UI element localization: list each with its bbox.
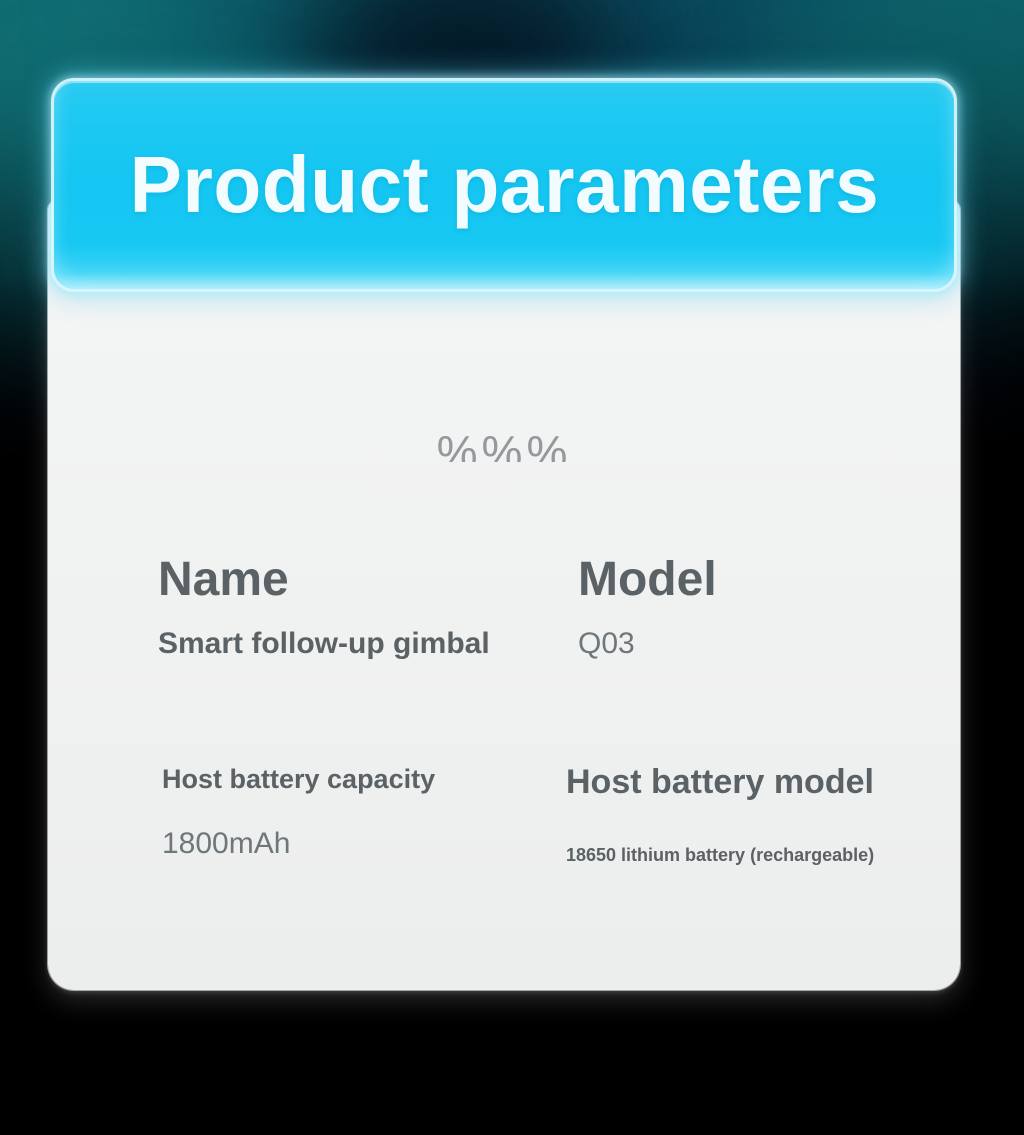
spec-label-name: Name (158, 555, 578, 605)
percent-ornament-glyphs: %%% (437, 432, 572, 462)
spec-label-host-battery-model: Host battery model (566, 765, 960, 801)
spec-table: %%% Name Smart follow-up gimbal Model Q0… (48, 200, 960, 990)
spec-cell-name: Name Smart follow-up gimbal (158, 555, 578, 661)
page-root: Product parameters %%% Name Smart follow… (0, 0, 1024, 1135)
product-parameters-card: Product parameters %%% Name Smart follow… (48, 81, 960, 990)
spec-label-model: Model (578, 555, 958, 605)
spec-value-model: Q03 (578, 627, 958, 661)
spec-value-name: Smart follow-up gimbal (158, 627, 578, 661)
spec-cell-model: Model Q03 (578, 555, 958, 661)
percent-ornament-icon: %%% (48, 432, 960, 462)
spec-label-host-battery-capacity: Host battery capacity (162, 765, 562, 793)
spec-value-host-battery-model: 18650 lithium battery (rechargeable) (566, 845, 960, 866)
spec-cell-host-battery-capacity: Host battery capacity 1800mAh (162, 765, 562, 861)
spec-value-host-battery-capacity: 1800mAh (162, 827, 562, 861)
spec-cell-host-battery-model: Host battery model 18650 lithium battery… (566, 765, 960, 866)
